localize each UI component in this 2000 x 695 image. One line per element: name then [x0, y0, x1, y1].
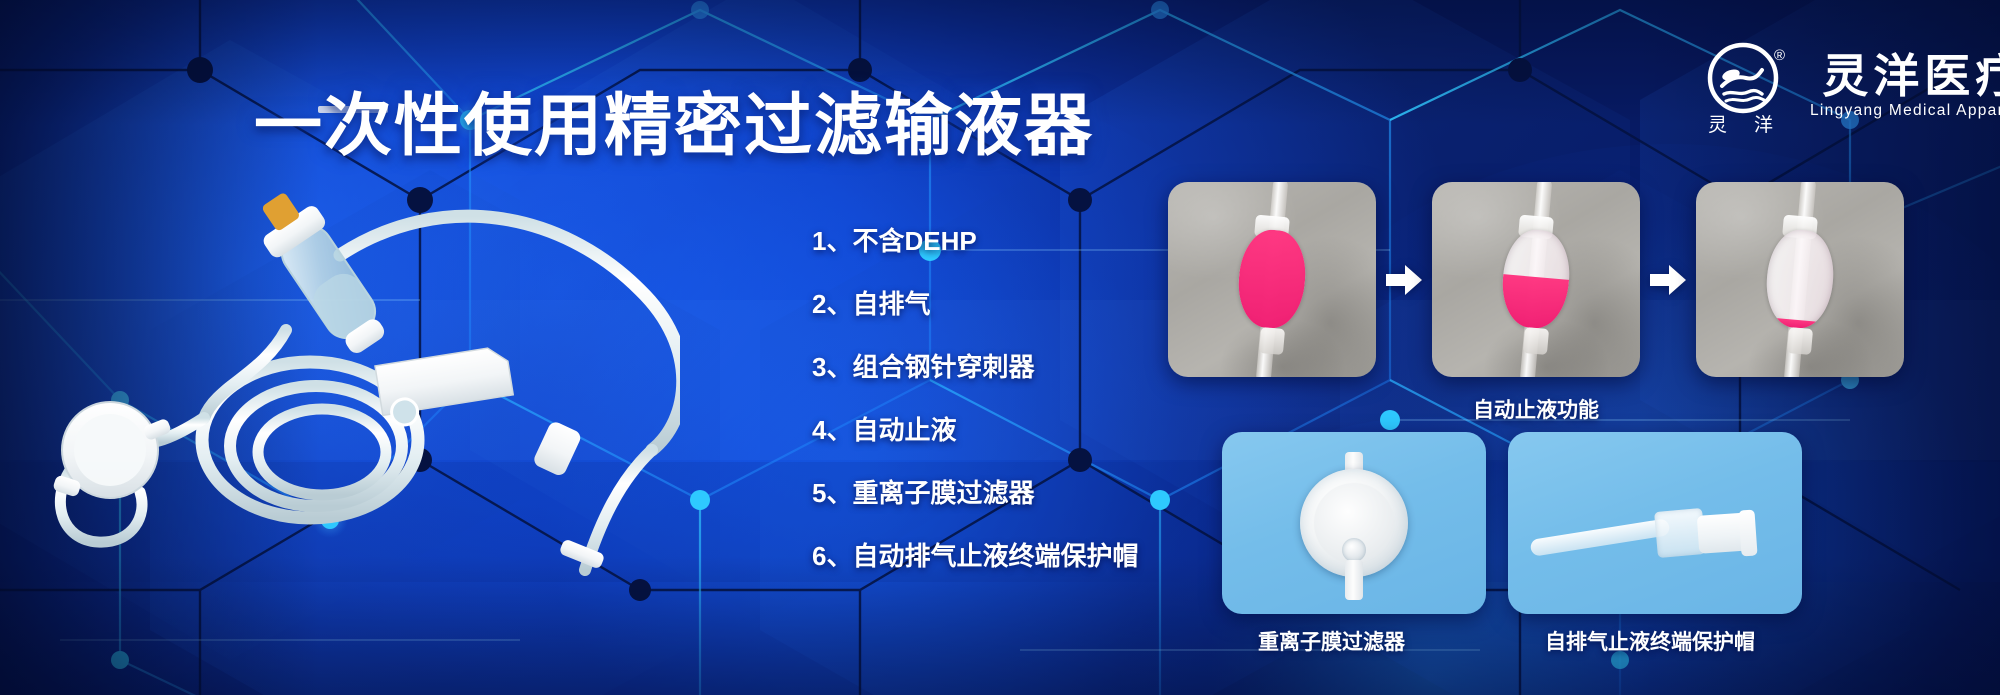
emblem-char-right: 洋 [1754, 114, 1773, 134]
step-arrow-2-icon [1640, 263, 1696, 297]
emblem-char-left: 灵 [1708, 115, 1727, 134]
filter-vent-cap [1342, 538, 1366, 562]
infusion-set-illustration [40, 150, 680, 580]
demo-photo-step-2 [1432, 182, 1640, 377]
product-banner: 一次性使用精密过滤输液器 ® 灵 洋 灵洋医疗 Lingyang Medical… [0, 0, 2000, 695]
feature-item-4: 4、自动止液 [812, 417, 1138, 443]
svg-text:®: ® [1774, 47, 1785, 64]
feature-item-1: 1、不含DEHP [812, 228, 1138, 254]
tube-connector-bottom [1523, 327, 1549, 355]
fluid-level [1235, 227, 1309, 330]
tube-connector-bottom [1259, 327, 1285, 355]
feature-item-5: 5、重离子膜过滤器 [812, 480, 1138, 506]
brand-name-cn: 灵洋医疗 [1822, 52, 2000, 101]
feature-item-6: 6、自动排气止液终端保护帽 [812, 543, 1138, 569]
filter-outlet-port [1345, 560, 1363, 600]
brand-logo: ® 灵 洋 灵洋医疗 Lingyang Medical Apparatus [1700, 38, 2000, 134]
feature-item-3: 3、组合钢针穿刺器 [812, 354, 1138, 380]
demo-photo-step-3 [1696, 182, 1904, 377]
page-title: 一次性使用精密过滤输液器 [254, 92, 1094, 160]
fluid-level [1499, 274, 1569, 331]
auto-stop-demo-caption: 自动止液功能 [1473, 394, 1599, 424]
brand-name-block: 灵洋医疗 Lingyang Medical Apparatus [1810, 52, 2000, 121]
brand-name-en: Lingyang Medical Apparatus [1810, 102, 2000, 120]
card-caption-filter: 重离子膜过滤器 [1258, 626, 1405, 656]
cap-end-ring [1738, 509, 1757, 556]
hero-product-image [40, 150, 680, 580]
card-terminal-protective-cap [1508, 432, 1802, 614]
tube-connector-bottom [1787, 327, 1813, 355]
demo-photo-step-1 [1168, 182, 1376, 377]
cap-tubing [1530, 518, 1671, 557]
step-arrow-1-icon [1376, 263, 1432, 297]
feature-list: 1、不含DEHP 2、自排气 3、组合钢针穿刺器 4、自动止液 5、重离子膜过滤… [812, 228, 1138, 569]
auto-stop-chamber [1235, 227, 1309, 330]
feature-item-2: 2、自排气 [812, 291, 1138, 317]
card-caption-cap: 自排气止液终端保护帽 [1545, 626, 1755, 656]
logo-emblem-icon: ® 灵 洋 [1700, 38, 1792, 134]
card-heavy-ion-membrane-filter [1222, 432, 1486, 614]
auto-stop-demo-strip [1168, 182, 1904, 377]
